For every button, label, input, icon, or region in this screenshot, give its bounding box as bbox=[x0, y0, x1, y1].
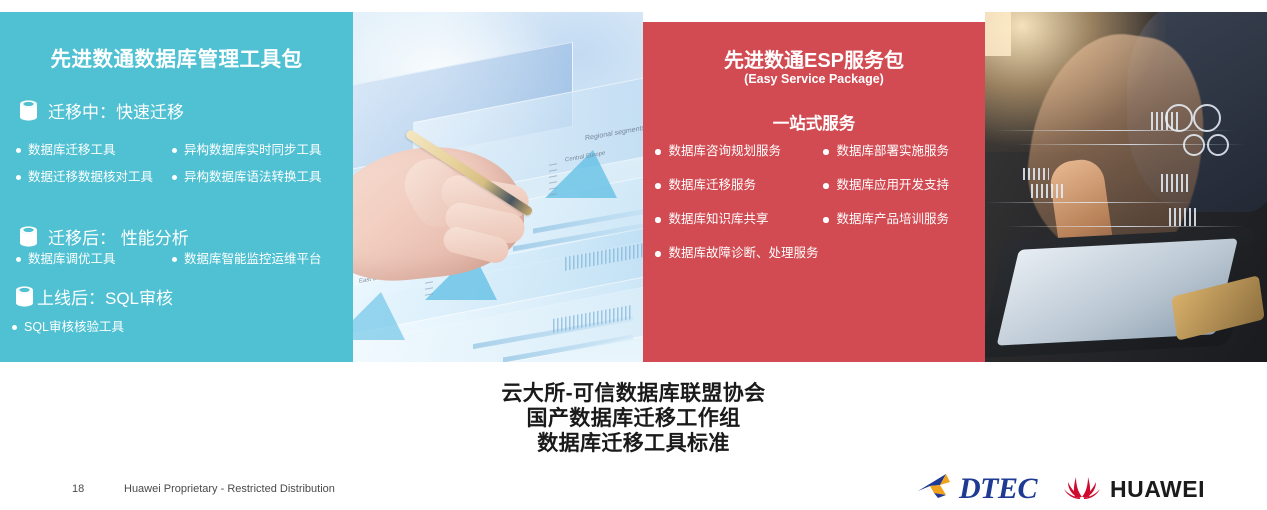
red-panel-title: 先进数通ESP服务包 bbox=[643, 44, 985, 73]
teal-panel: 先进数通数据库管理工具包 迁移中：快速迁移 数据库迁移工具 异构数据库实 bbox=[0, 12, 353, 362]
bullet-dot-icon bbox=[655, 149, 661, 155]
list-item-label: SQL审核核验工具 bbox=[24, 320, 124, 334]
list-item-label: 数据库知识库共享 bbox=[669, 212, 769, 226]
red-bullet-grid: 数据库咨询规划服务 数据库部署实施服务 数据库迁移服务 数据库应用开发支持 bbox=[643, 144, 985, 260]
list-item-label: 数据库部署实施服务 bbox=[837, 144, 950, 158]
right-photo bbox=[985, 12, 1267, 362]
bullet-dot-icon bbox=[172, 175, 177, 180]
hud-bar-chart-icon bbox=[1031, 184, 1065, 198]
light-streak bbox=[995, 130, 1235, 131]
bullet-dot-icon bbox=[823, 183, 829, 189]
bullet-dot-icon bbox=[823, 217, 829, 223]
list-item: 数据库产品培训服务 bbox=[823, 212, 985, 226]
red-panel-subtitle: (Easy Service Package) bbox=[643, 72, 985, 86]
list-item: 数据库部署实施服务 bbox=[823, 144, 985, 158]
list-item: 数据库咨询规划服务 bbox=[643, 144, 823, 158]
hud-ring-icon bbox=[1183, 134, 1205, 156]
bullet-row: 数据库知识库共享 数据库产品培训服务 bbox=[643, 212, 985, 226]
teal-section-label-3: 上线后：SQL审核 bbox=[37, 284, 173, 309]
bullet-dot-icon bbox=[16, 175, 21, 180]
teal-bullet-group-2: 数据库调优工具 数据库智能监控运维平台 bbox=[0, 252, 353, 266]
list-item-label: 数据库智能监控运维平台 bbox=[184, 252, 322, 266]
dtec-mark-icon bbox=[916, 471, 958, 506]
bullet-dot-icon bbox=[172, 257, 177, 262]
bullet-dot-icon bbox=[12, 325, 17, 330]
list-item-label: 异构数据库语法转换工具 bbox=[184, 170, 322, 184]
teal-section-label-1: 迁移中：快速迁移 bbox=[48, 98, 184, 123]
teal-bullet-group-1: 数据库迁移工具 异构数据库实时同步工具 数据迁移数据核对工具 异构数据库语法转换… bbox=[0, 143, 353, 184]
red-panel-section-heading: 一站式服务 bbox=[643, 110, 985, 134]
caption-line-2: 国产数据库迁移工作组 bbox=[0, 406, 1267, 431]
light-streak bbox=[985, 202, 1195, 203]
list-item: 数据库知识库共享 bbox=[643, 212, 823, 226]
hud-bar-chart-icon bbox=[1161, 174, 1191, 192]
teal-section-heading-1: 迁移中：快速迁移 bbox=[18, 98, 184, 123]
list-item: 异构数据库语法转换工具 bbox=[172, 170, 353, 184]
teal-section-heading-2: 迁移后： 性能分析 bbox=[18, 224, 189, 249]
huawei-flower-icon bbox=[1063, 473, 1101, 504]
hud-bar-chart-icon bbox=[1023, 168, 1049, 180]
list-item: 异构数据库实时同步工具 bbox=[172, 143, 353, 157]
hud-ring-icon bbox=[1207, 134, 1229, 156]
list-item-label: 数据库产品培训服务 bbox=[837, 212, 950, 226]
list-item-label: 数据库迁移工具 bbox=[28, 143, 116, 157]
footer-note: Huawei Proprietary - Restricted Distribu… bbox=[124, 483, 335, 495]
caption-block: 云大所-可信数据库联盟协会 国产数据库迁移工作组 数据库迁移工具标准 bbox=[0, 381, 1267, 456]
axis-ticks bbox=[549, 163, 557, 195]
database-icon bbox=[14, 285, 35, 309]
huawei-logo: HUAWEI bbox=[1063, 473, 1205, 504]
hud-ring-icon bbox=[1193, 104, 1221, 132]
red-panel: 先进数通ESP服务包 (Easy Service Package) 一站式服务 … bbox=[643, 22, 985, 362]
bullet-dot-icon bbox=[823, 149, 829, 155]
dtec-wordmark: DTEC bbox=[959, 474, 1037, 504]
list-item: 数据库迁移工具 bbox=[0, 143, 172, 157]
teal-panel-title: 先进数通数据库管理工具包 bbox=[0, 42, 353, 72]
list-item: 数据库故障诊断、处理服务 bbox=[643, 246, 823, 260]
hud-bar-chart-icon bbox=[1169, 208, 1199, 226]
list-item-label: 数据库调优工具 bbox=[28, 252, 116, 266]
caption-line-1: 云大所-可信数据库联盟协会 bbox=[0, 381, 1267, 406]
dtec-logo: DTEC bbox=[916, 471, 1037, 506]
bullet-dot-icon bbox=[655, 183, 661, 189]
list-item-label: 数据库故障诊断、处理服务 bbox=[669, 246, 819, 260]
teal-bullet-group-3: SQL审核核验工具 bbox=[0, 320, 353, 334]
caption-line-3: 数据库迁移工具标准 bbox=[0, 431, 1267, 456]
list-item: 数据库迁移服务 bbox=[643, 178, 823, 192]
database-icon bbox=[18, 99, 39, 123]
center-photo: Regional segments Central Europe West Eu… bbox=[353, 12, 643, 362]
page-number: 18 bbox=[72, 483, 84, 495]
bullet-row: 数据迁移数据核对工具 异构数据库语法转换工具 bbox=[0, 170, 353, 184]
list-item-label: 数据迁移数据核对工具 bbox=[28, 170, 153, 184]
database-icon bbox=[18, 225, 39, 249]
teal-section-heading-3: 上线后：SQL审核 bbox=[14, 284, 173, 309]
bullet-dot-icon bbox=[16, 257, 21, 262]
huawei-wordmark: HUAWEI bbox=[1110, 477, 1205, 501]
list-item-label: 数据库迁移服务 bbox=[669, 178, 757, 192]
light-streak bbox=[1005, 226, 1245, 227]
bullet-dot-icon bbox=[172, 148, 177, 153]
bullet-dot-icon bbox=[655, 217, 661, 223]
list-item: 数据库应用开发支持 bbox=[823, 178, 985, 192]
slide-root: 先进数通数据库管理工具包 迁移中：快速迁移 数据库迁移工具 异构数据库实 bbox=[0, 0, 1267, 510]
list-item-label: 数据库咨询规划服务 bbox=[669, 144, 782, 158]
list-item: SQL审核核验工具 bbox=[0, 320, 172, 334]
list-item-label: 异构数据库实时同步工具 bbox=[184, 143, 322, 157]
list-item: 数据库智能监控运维平台 bbox=[172, 252, 353, 266]
teal-section-label-2: 迁移后： 性能分析 bbox=[48, 224, 189, 249]
bullet-row: SQL审核核验工具 bbox=[0, 320, 353, 334]
bullet-row: 数据库迁移工具 异构数据库实时同步工具 bbox=[0, 143, 353, 157]
bullet-dot-icon bbox=[16, 148, 21, 153]
list-item-label: 数据库应用开发支持 bbox=[837, 178, 950, 192]
bullet-row: 数据库迁移服务 数据库应用开发支持 bbox=[643, 178, 985, 192]
hud-bar-chart-icon bbox=[1151, 112, 1181, 130]
bullet-row: 数据库故障诊断、处理服务 bbox=[643, 246, 985, 260]
list-item: 数据迁移数据核对工具 bbox=[0, 170, 172, 184]
bullet-dot-icon bbox=[655, 251, 661, 257]
bullet-row: 数据库调优工具 数据库智能监控运维平台 bbox=[0, 252, 353, 266]
bullet-row: 数据库咨询规划服务 数据库部署实施服务 bbox=[643, 144, 985, 158]
list-item: 数据库调优工具 bbox=[0, 252, 172, 266]
